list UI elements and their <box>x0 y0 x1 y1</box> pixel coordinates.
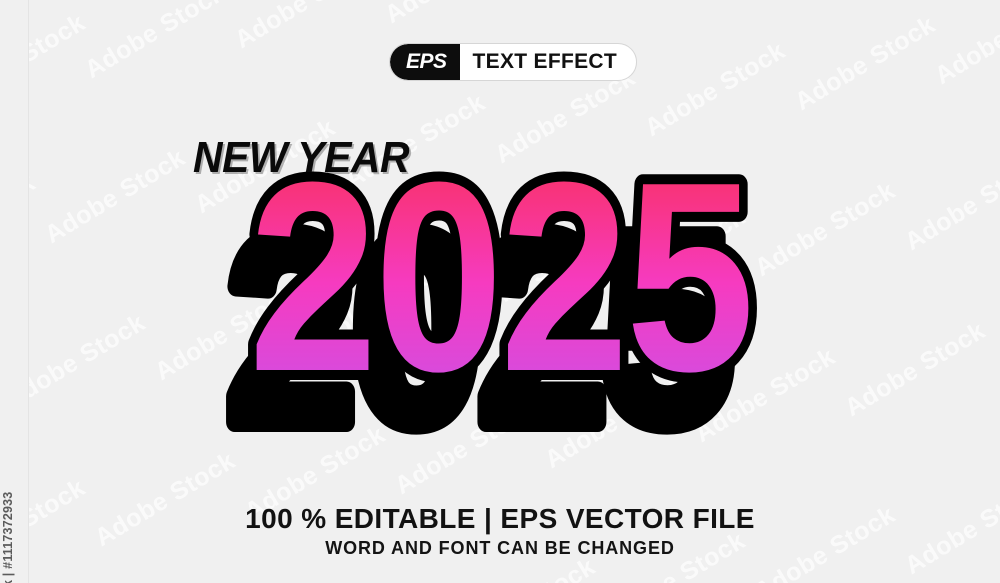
kicker-new-year: NEW YEAR <box>193 133 409 183</box>
year-headline-svg: 2025 2025 2025 <box>0 168 1000 458</box>
watermark-text: Adobe Stock <box>80 0 231 85</box>
watermark-text: Adobe Stock <box>380 0 531 30</box>
caption-editable: 100 % EDITABLE | EPS VECTOR FILE <box>0 503 1000 535</box>
watermark-text: Adobe Stock <box>90 446 241 552</box>
caption-word-font: WORD AND FONT CAN BE CHANGED <box>0 538 1000 559</box>
watermark-text: Adobe Stock <box>230 0 381 55</box>
watermark-text: Adobe Stock <box>530 0 681 5</box>
poster-canvas: Adobe StockAdobe StockAdobe StockAdobe S… <box>0 0 1000 583</box>
stock-credit-text: Adobe Stock | #1117372933 <box>1 492 15 583</box>
sidebar-divider <box>28 0 29 583</box>
eps-text-effect-badge: EPS TEXT EFFECT <box>389 43 637 81</box>
year-headline: 2025 2025 2025 <box>0 168 1000 458</box>
stock-credit-sidebar: Adobe Stock | #1117372933 <box>0 0 29 583</box>
text-effect-label: TEXT EFFECT <box>460 44 636 80</box>
watermark-text: Adobe Stock <box>790 10 941 116</box>
watermark-text: Adobe Stock <box>300 578 451 583</box>
watermark-text: Adobe Stock <box>930 0 1000 91</box>
eps-badge-label: EPS <box>390 44 460 80</box>
